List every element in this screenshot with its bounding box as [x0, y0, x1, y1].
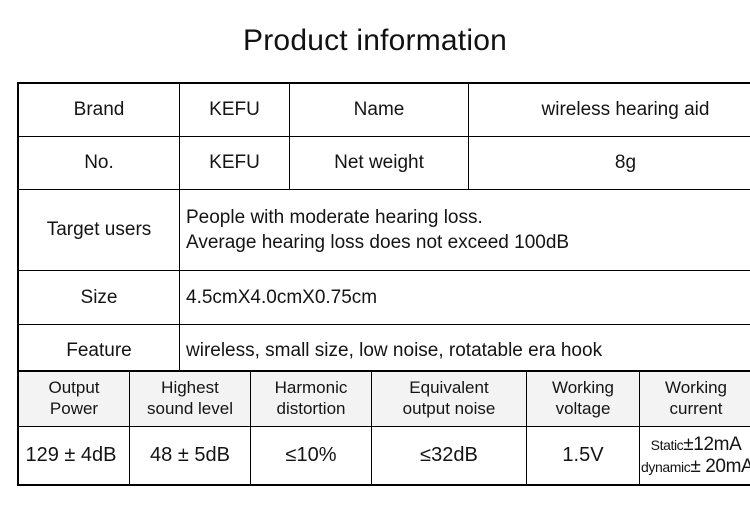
no-value: KEFU: [180, 137, 290, 190]
header-harmonic-distortion: Harmonic distortion: [251, 371, 372, 427]
working-current-dynamic: dynamic± 20mA: [641, 456, 750, 477]
no-label: No.: [18, 137, 180, 190]
table-row: Brand KEFU Name wireless hearing aid: [18, 83, 750, 137]
name-value: wireless hearing aid: [469, 83, 750, 137]
value-working-current: Static±12mA dynamic± 20mA: [640, 427, 750, 486]
value-highest-sound-level: 48 ± 5dB: [130, 427, 251, 486]
target-users-value: People with moderate hearing loss. Avera…: [180, 190, 750, 271]
header-working-current: Working current: [640, 371, 750, 427]
working-current-static: Static±12mA: [641, 434, 750, 455]
brand-value: KEFU: [180, 83, 290, 137]
value-equivalent-output-noise: ≤32dB: [372, 427, 527, 486]
value-working-voltage: 1.5V: [527, 427, 640, 486]
net-weight-value: 8g: [469, 137, 750, 190]
header-output-power: Output Power: [18, 371, 130, 427]
header-working-voltage: Working voltage: [527, 371, 640, 427]
name-label: Name: [290, 83, 469, 137]
value-output-power: 129 ± 4dB: [18, 427, 130, 486]
size-value: 4.5cmX4.0cmX0.75cm: [180, 271, 750, 325]
page-title: Product information: [0, 0, 750, 62]
header-equivalent-output-noise: Equivalent output noise: [372, 371, 527, 427]
table-row: No. KEFU Net weight 8g: [18, 137, 750, 190]
spec-header-row: Output Power Highest sound level Harmoni…: [18, 371, 750, 427]
brand-label: Brand: [18, 83, 180, 137]
value-harmonic-distortion: ≤10%: [251, 427, 372, 486]
specification-table: Output Power Highest sound level Harmoni…: [17, 370, 750, 486]
net-weight-label: Net weight: [290, 137, 469, 190]
target-users-line-1: People with moderate hearing loss.: [186, 205, 750, 230]
product-information-table-wrapper: Brand KEFU Name wireless hearing aid No.…: [17, 82, 733, 379]
header-highest-sound-level: Highest sound level: [130, 371, 251, 427]
table-row: Target users People with moderate hearin…: [18, 190, 750, 271]
target-users-line-2: Average hearing loss does not exceed 100…: [186, 230, 750, 255]
product-information-table: Brand KEFU Name wireless hearing aid No.…: [17, 82, 750, 379]
target-users-label: Target users: [18, 190, 180, 271]
size-label: Size: [18, 271, 180, 325]
table-row: Size 4.5cmX4.0cmX0.75cm: [18, 271, 750, 325]
spec-values-row: 129 ± 4dB 48 ± 5dB ≤10% ≤32dB 1.5V Stati…: [18, 427, 750, 486]
specification-table-wrapper: Output Power Highest sound level Harmoni…: [17, 370, 733, 486]
